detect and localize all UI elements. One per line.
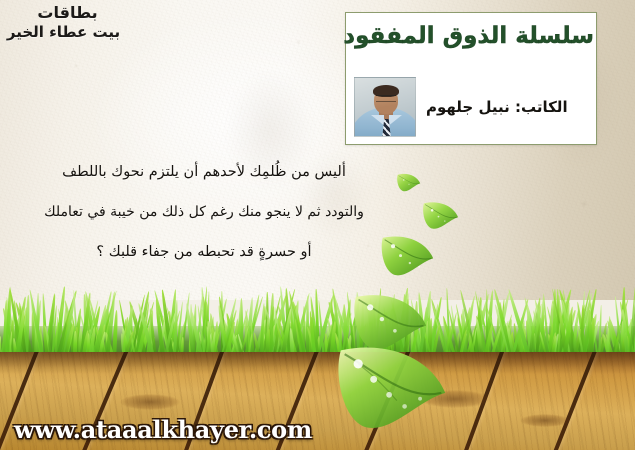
brand-tag: بطاقات بيت عطاء الخير <box>5 4 130 42</box>
glasses-icon <box>376 95 396 102</box>
brand-line-1: بطاقات <box>5 4 130 23</box>
resting-leaf-front <box>335 340 451 438</box>
brand-line-2: بيت عطاء الخير <box>5 24 122 42</box>
website-url[interactable]: www.ataaalkhayer.com <box>14 415 312 444</box>
series-title: سلسلة الذوق المفقود <box>350 23 594 49</box>
falling-leaf-medium <box>422 200 460 232</box>
title-panel: سلسلة الذوق المفقود الكاتب: نبيل جلهوم <box>345 12 597 145</box>
quote-line-2: والتودد ثم لا ينجو منك رغم كل ذلك من خيب… <box>8 192 400 232</box>
quote-line-1: أليس من ظُلمِك لأحدهم أن يلتزم نحوك بالل… <box>8 152 400 192</box>
wood-knot <box>120 394 180 410</box>
quote-block: أليس من ظُلمِك لأحدهم أن يلتزم نحوك بالل… <box>8 152 400 272</box>
floor-contact-shadow <box>0 352 635 374</box>
wood-knot <box>520 414 570 427</box>
greeting-card: بطاقات بيت عطاء الخير سلسلة الذوق المفقو… <box>0 0 635 450</box>
author-photo <box>354 77 416 137</box>
falling-leaf-small <box>396 172 422 194</box>
author-label: الكاتب: نبيل جلهوم <box>426 98 572 116</box>
grass-band <box>0 276 635 360</box>
quote-line-3: أو حسرةٍ قد تحبطه من جفاء قلبك ؟ <box>8 232 400 272</box>
falling-leaf-large <box>380 233 436 280</box>
author-row: الكاتب: نبيل جلهوم <box>354 75 590 139</box>
